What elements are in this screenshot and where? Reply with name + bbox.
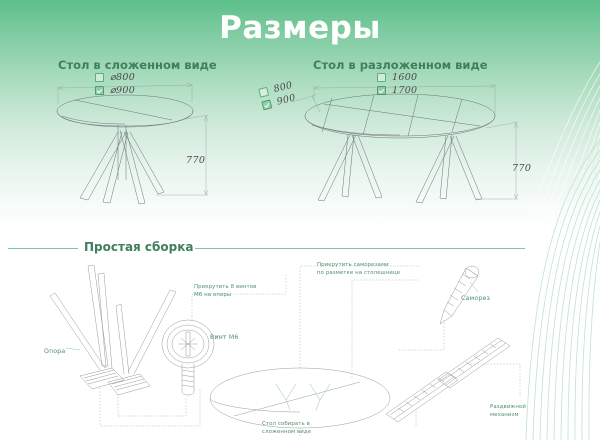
annotation-selftapping: Прикрутить саморезами по разметке на сто… [317, 262, 400, 278]
part-label-support: Опора [44, 348, 65, 355]
section-heading-folded: Стол в сложенном виде [58, 58, 217, 72]
checkbox-checked[interactable] [261, 99, 272, 110]
checkbox-unchecked[interactable] [377, 73, 386, 82]
unfolded-height-label: 770 [512, 163, 531, 174]
page-title: Размеры [0, 10, 600, 46]
checkbox-unchecked[interactable] [95, 73, 104, 82]
support-part-drawing [50, 265, 176, 395]
folded-table-drawing [40, 82, 260, 207]
bolt-part-drawing [162, 320, 214, 395]
folded-height-label: 770 [186, 155, 205, 166]
tabletop-underside-drawing [210, 368, 390, 428]
part-label-screw: Саморез [461, 295, 490, 302]
page-root: Размеры Стол в сложенном виде Стол в раз… [0, 0, 600, 440]
callout-leaders [66, 282, 478, 350]
unfolded-table-drawing [290, 82, 540, 207]
section-heading-unfolded: Стол в разложенном виде [313, 58, 488, 72]
annotation-mechanism: Раздвижной механизм [490, 404, 526, 420]
part-label-bolt: Винт М6 [210, 334, 239, 341]
assembly-divider: Простая сборка [0, 240, 600, 256]
assembly-heading: Простая сборка [84, 240, 194, 254]
annotation-screws: Прикрутить 8 винтов М6 на опоры [194, 284, 256, 300]
divider-line-right [195, 248, 525, 249]
annotation-assemble-folded: Стол собирать в сложенном виде [262, 421, 311, 437]
divider-line-left [8, 248, 78, 249]
